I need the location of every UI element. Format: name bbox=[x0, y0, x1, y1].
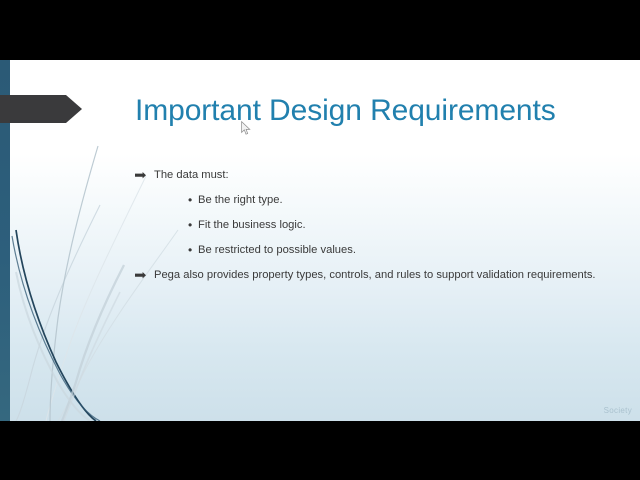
sub-bullet-item: • Be restricted to possible values. bbox=[188, 243, 605, 259]
dot-bullet-icon: • bbox=[188, 218, 198, 234]
sub-bullet-label: Be restricted to possible values. bbox=[198, 243, 605, 259]
pennant-bullet-icon bbox=[135, 268, 154, 280]
dot-bullet-icon: • bbox=[188, 243, 198, 259]
presentation-slide: Important Design Requirements The data m… bbox=[0, 60, 640, 421]
video-player-frame: Important Design Requirements The data m… bbox=[0, 0, 640, 480]
letterbox-bottom-bar bbox=[0, 421, 640, 480]
bullet-label: The data must: bbox=[154, 168, 605, 184]
sub-bullet-item: • Fit the business logic. bbox=[188, 218, 605, 234]
title-arrow-banner-icon bbox=[0, 95, 82, 123]
bullet-item: Pega also provides property types, contr… bbox=[135, 268, 605, 284]
sub-bullet-label: Be the right type. bbox=[198, 193, 605, 209]
slide-title: Important Design Requirements bbox=[135, 92, 605, 130]
slide-body-content: The data must: • Be the right type. • Fi… bbox=[135, 168, 605, 293]
letterbox-top-bar bbox=[0, 0, 640, 60]
dot-bullet-icon: • bbox=[188, 193, 198, 209]
pennant-bullet-icon bbox=[135, 168, 154, 180]
bullet-label: Pega also provides property types, contr… bbox=[154, 268, 605, 284]
sub-bullet-item: • Be the right type. bbox=[188, 193, 605, 209]
slide-watermark: Society bbox=[604, 406, 632, 415]
sub-bullet-label: Fit the business logic. bbox=[198, 218, 605, 234]
bullet-item: The data must: bbox=[135, 168, 605, 184]
